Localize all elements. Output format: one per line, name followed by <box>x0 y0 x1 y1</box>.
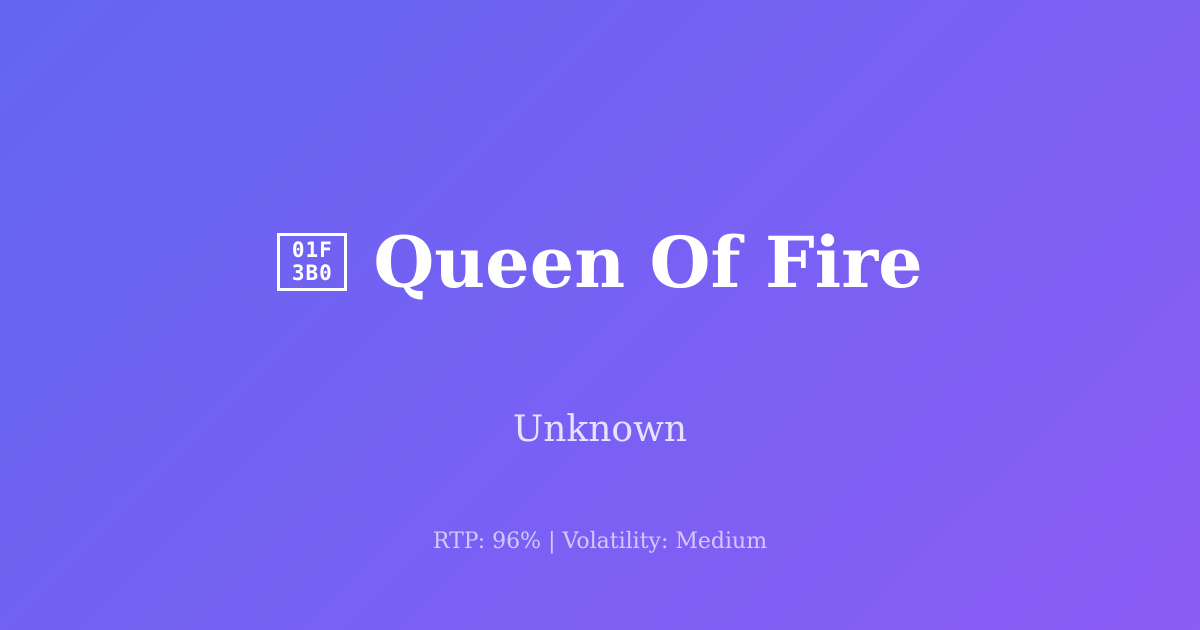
slot-machine-icon: 01F 3B0 <box>277 233 347 291</box>
provider-subtitle: Unknown <box>513 408 687 451</box>
tofu-codepoint-top: 01F <box>292 239 333 262</box>
tofu-codepoint-bottom: 3B0 <box>292 262 333 285</box>
og-share-card: 01F 3B0 Queen Of Fire Unknown RTP: 96% |… <box>0 0 1200 630</box>
game-meta-line: RTP: 96% | Volatility: Medium <box>0 528 1200 556</box>
page-title: Queen Of Fire <box>373 226 922 300</box>
title-row: 01F 3B0 Queen Of Fire <box>237 179 962 346</box>
